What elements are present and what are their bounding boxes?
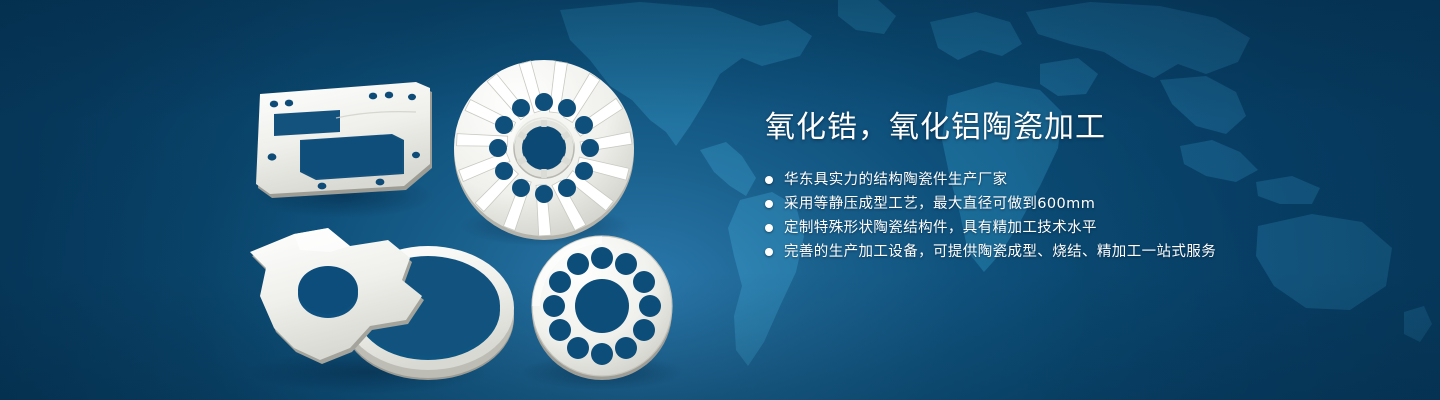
banner-content: 氧化锆，氧化铝陶瓷加工 华东具实力的结构陶瓷件生产厂家 采用等静压成型工艺，最大… — [765, 108, 1385, 264]
bullet-dot-icon — [765, 248, 773, 256]
list-item: 完善的生产加工设备，可提供陶瓷成型、烧结、精加工一站式服务 — [765, 240, 1385, 263]
ceramic-hole-ring-part — [532, 236, 672, 380]
feature-text: 采用等静压成型工艺，最大直径可做到600mm — [784, 194, 1095, 214]
list-item: 采用等静压成型工艺，最大直径可做到600mm — [765, 192, 1385, 215]
promo-banner: 氧化锆，氧化铝陶瓷加工 华东具实力的结构陶瓷件生产厂家 采用等静压成型工艺，最大… — [0, 0, 1440, 400]
bullet-dot-icon — [765, 176, 773, 184]
list-item: 定制特殊形状陶瓷结构件，具有精加工技术水平 — [765, 216, 1385, 239]
list-item: 华东具实力的结构陶瓷件生产厂家 — [765, 168, 1385, 191]
page-title: 氧化锆，氧化铝陶瓷加工 — [765, 108, 1385, 148]
ceramic-impeller-part — [454, 59, 634, 240]
ceramic-parts-photo — [0, 0, 720, 400]
bullet-dot-icon — [765, 224, 773, 232]
feature-list: 华东具实力的结构陶瓷件生产厂家 采用等静压成型工艺，最大直径可做到600mm 定… — [765, 168, 1385, 263]
bullet-dot-icon — [765, 200, 773, 208]
ceramic-plate-part — [256, 82, 432, 198]
feature-text: 定制特殊形状陶瓷结构件，具有精加工技术水平 — [784, 218, 1097, 238]
feature-text: 完善的生产加工设备，可提供陶瓷成型、烧结、精加工一站式服务 — [784, 242, 1216, 262]
feature-text: 华东具实力的结构陶瓷件生产厂家 — [784, 170, 1008, 190]
